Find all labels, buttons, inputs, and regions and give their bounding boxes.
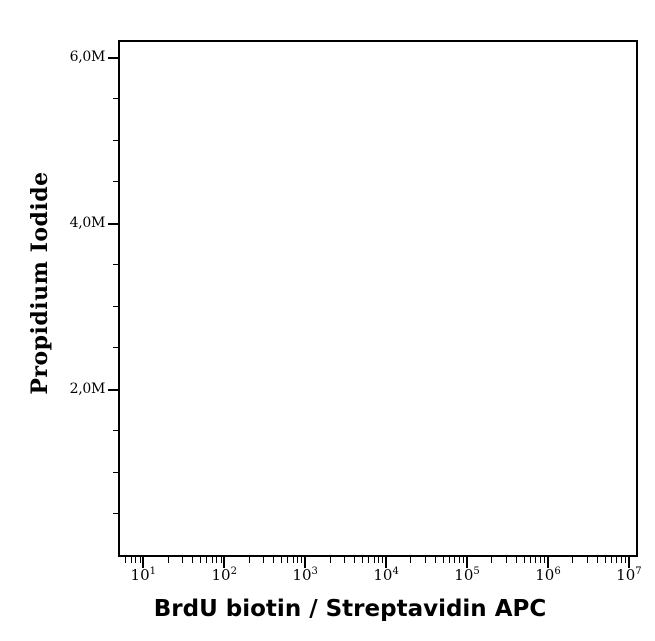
x-tick-minor bbox=[192, 557, 193, 563]
x-tick-minor bbox=[354, 557, 355, 563]
y-tick-minor bbox=[113, 98, 119, 99]
x-tick-minor bbox=[287, 557, 288, 563]
y-tick-label: 6,0M bbox=[0, 49, 105, 67]
x-tick-minor bbox=[605, 557, 606, 563]
x-tick-label-text: 106 bbox=[535, 566, 560, 584]
x-tick-minor bbox=[544, 557, 545, 563]
x-tick-minor bbox=[524, 557, 525, 563]
x-tick-minor bbox=[463, 557, 464, 563]
x-tick-minor bbox=[362, 557, 363, 563]
x-tick-minor bbox=[506, 557, 507, 563]
x-axis-title: BrdU biotin / Streptavidin APC bbox=[80, 596, 620, 622]
x-tick-minor bbox=[572, 557, 573, 563]
x-tick-minor bbox=[297, 557, 298, 563]
x-tick-minor bbox=[435, 557, 436, 563]
x-tick-minor bbox=[135, 557, 136, 563]
x-tick-minor bbox=[425, 557, 426, 563]
y-tick-label-text: 2,0M bbox=[70, 381, 105, 397]
x-tick-minor bbox=[516, 557, 517, 563]
x-tick-minor bbox=[368, 557, 369, 563]
x-tick-minor bbox=[216, 557, 217, 563]
x-tick-label: 107 bbox=[599, 566, 655, 585]
x-tick-minor bbox=[625, 557, 626, 563]
x-tick-label: 102 bbox=[194, 566, 254, 585]
x-tick-minor bbox=[491, 557, 492, 563]
x-tick-minor bbox=[540, 557, 541, 563]
x-tick-minor bbox=[131, 557, 132, 563]
x-tick-label-text: 101 bbox=[131, 566, 156, 584]
x-tick-minor bbox=[443, 557, 444, 563]
x-tick-minor bbox=[378, 557, 379, 563]
x-tick-label: 106 bbox=[518, 566, 578, 585]
x-tick-label-text: 104 bbox=[373, 566, 398, 584]
y-tick-minor bbox=[113, 347, 119, 348]
x-tick-minor bbox=[206, 557, 207, 563]
x-tick-minor bbox=[530, 557, 531, 563]
x-tick-minor bbox=[293, 557, 294, 563]
x-tick-minor bbox=[221, 557, 222, 563]
y-tick-minor bbox=[113, 181, 119, 182]
x-tick-minor bbox=[140, 557, 141, 563]
x-tick-label-text: 107 bbox=[616, 566, 641, 584]
x-tick-minor bbox=[249, 557, 250, 563]
x-tick-minor bbox=[200, 557, 201, 563]
x-tick-minor bbox=[621, 557, 622, 563]
x-tick-minor bbox=[273, 557, 274, 563]
x-tick-minor bbox=[459, 557, 460, 563]
x-tick-minor bbox=[410, 557, 411, 563]
x-tick-label-text: 105 bbox=[454, 566, 479, 584]
x-tick-minor bbox=[616, 557, 617, 563]
x-tick-minor bbox=[281, 557, 282, 563]
y-tick-minor bbox=[113, 513, 119, 514]
x-tick-label: 101 bbox=[113, 566, 173, 585]
y-tick-major bbox=[108, 223, 119, 225]
y-tick-minor bbox=[113, 306, 119, 307]
flow-cytometry-figure: 2,0M4,0M6,0M 101102103104105106107 Propi… bbox=[0, 0, 655, 641]
x-tick-minor bbox=[535, 557, 536, 563]
axis-line-right bbox=[636, 40, 638, 557]
x-tick-minor bbox=[449, 557, 450, 563]
x-tick-label: 104 bbox=[356, 566, 416, 585]
x-tick-minor bbox=[263, 557, 264, 563]
x-tick-minor bbox=[125, 557, 126, 563]
y-axis-title: Propidium Iodide bbox=[27, 123, 53, 443]
x-tick-label-text: 102 bbox=[211, 566, 236, 584]
x-tick-label: 105 bbox=[437, 566, 497, 585]
y-tick-label-text: 4,0M bbox=[70, 215, 105, 231]
x-tick-minor bbox=[382, 557, 383, 563]
x-tick-minor bbox=[587, 557, 588, 563]
x-tick-minor bbox=[454, 557, 455, 563]
x-tick-minor bbox=[374, 557, 375, 563]
x-tick-minor bbox=[597, 557, 598, 563]
x-tick-label-text: 103 bbox=[292, 566, 317, 584]
y-tick-minor bbox=[113, 430, 119, 431]
x-tick-minor bbox=[301, 557, 302, 563]
y-tick-major bbox=[108, 389, 119, 391]
axis-line-top bbox=[119, 40, 638, 42]
y-tick-major bbox=[108, 57, 119, 59]
x-tick-label: 103 bbox=[275, 566, 335, 585]
x-tick-minor bbox=[168, 557, 169, 563]
y-tick-minor bbox=[113, 264, 119, 265]
axis-line-left bbox=[118, 40, 120, 557]
x-tick-minor bbox=[330, 557, 331, 563]
x-tick-minor bbox=[182, 557, 183, 563]
y-tick-minor bbox=[113, 140, 119, 141]
x-tick-minor bbox=[212, 557, 213, 563]
y-tick-minor bbox=[113, 472, 119, 473]
x-tick-minor bbox=[611, 557, 612, 563]
plot-area bbox=[119, 41, 637, 556]
y-tick-label-text: 6,0M bbox=[70, 49, 105, 65]
x-tick-minor bbox=[344, 557, 345, 563]
